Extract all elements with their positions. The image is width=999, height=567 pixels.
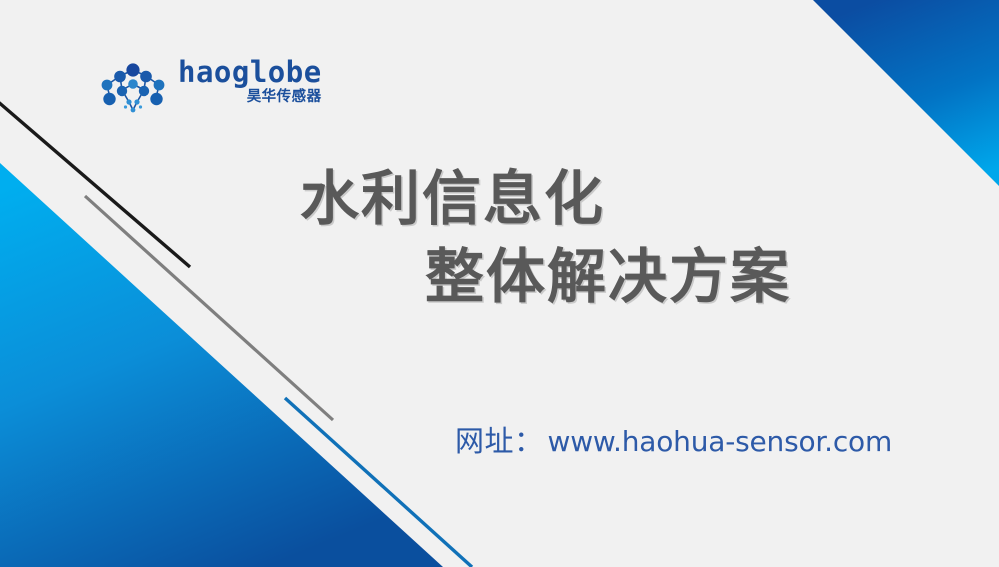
brand-logo: haoglobe 昊华传感器 bbox=[96, 58, 316, 120]
logo-wordmark: haoglobe bbox=[178, 58, 322, 88]
logo-text-group: haoglobe 昊华传感器 bbox=[178, 58, 322, 106]
website-url[interactable]: www.haohua-sensor.com bbox=[548, 425, 893, 458]
top-right-blue-triangle bbox=[813, 0, 999, 186]
page-title-line-1: 水利信息化 bbox=[300, 160, 900, 238]
page-title: 水利信息化 整体解决方案 bbox=[300, 160, 900, 317]
logo-subtext-chinese: 昊华传感器 bbox=[247, 90, 322, 106]
website-label: 网址： bbox=[455, 418, 544, 460]
haoglobe-network-dots-icon bbox=[96, 60, 170, 118]
website-line: 网址： www.haohua-sensor.com bbox=[455, 418, 892, 460]
slide-canvas: haoglobe 昊华传感器 水利信息化 整体解决方案 网址： www.haoh… bbox=[0, 0, 999, 567]
page-title-line-2: 整体解决方案 bbox=[425, 238, 900, 316]
